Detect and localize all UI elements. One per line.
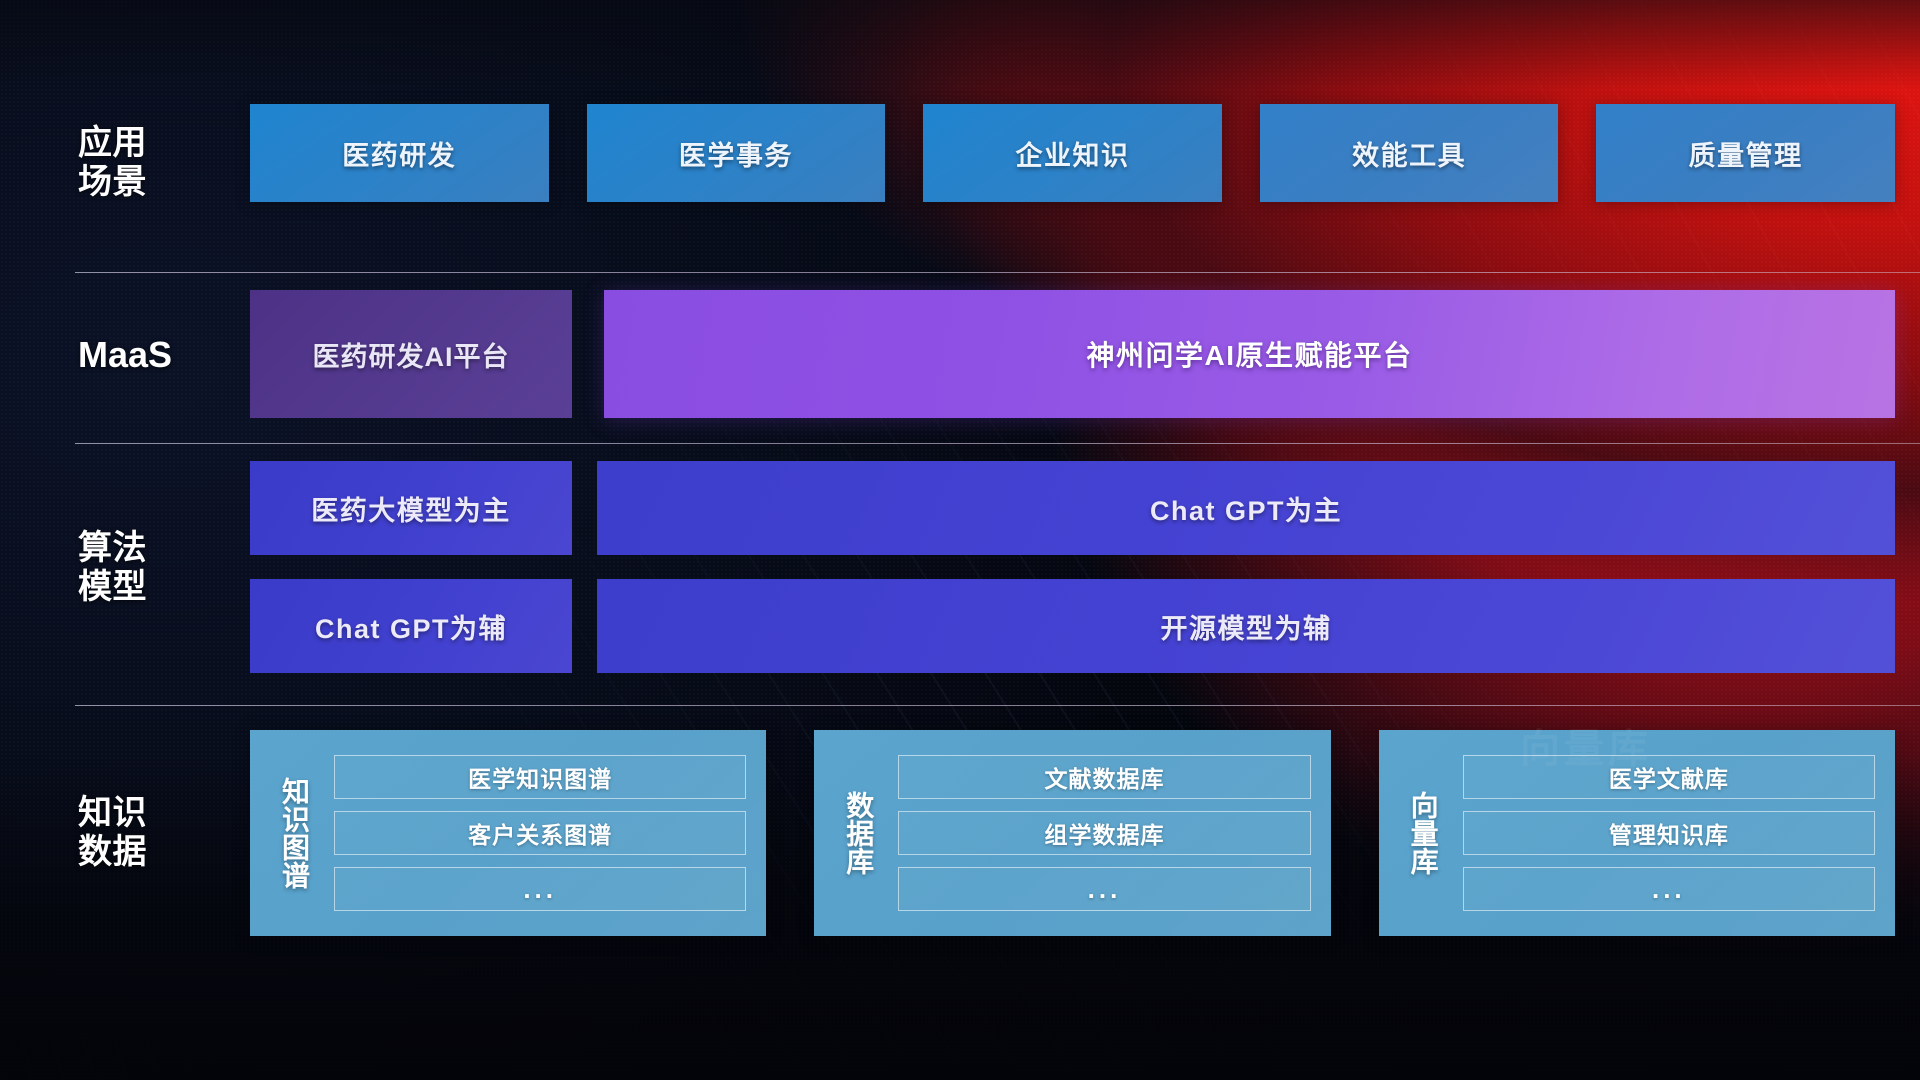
knowledge-item-list: 医学文献库 管理知识库 ... xyxy=(1463,755,1875,911)
knowledge-group-label-database: 数据库 xyxy=(830,791,886,875)
knowledge-group-label-vector-store: 向量库 xyxy=(1395,791,1451,875)
knowledge-item-list: 文献数据库 组学数据库 ... xyxy=(898,755,1310,911)
knowledge-group-vector-store[interactable]: 向量库 医学文献库 管理知识库 ... xyxy=(1379,730,1895,936)
algo-card-chatgpt-secondary[interactable]: Chat GPT为辅 xyxy=(250,579,572,673)
divider-applications-maas xyxy=(75,272,1920,273)
row-label-application-scenarios: 应用 场景 xyxy=(78,124,228,203)
knowledge-item-medical-knowledge-graph[interactable]: 医学知识图谱 xyxy=(334,755,746,799)
knowledge-group-label-text: 知识图谱 xyxy=(278,777,310,889)
algo-card-medicine-large-model-primary[interactable]: 医药大模型为主 xyxy=(250,461,572,555)
knowledge-group-label-text: 数据库 xyxy=(842,791,874,875)
knowledge-item-omics-database[interactable]: 组学数据库 xyxy=(898,811,1310,855)
algorithm-right-column: Chat GPT为主 开源模型为辅 xyxy=(597,461,1895,673)
app-card-efficiency-tools[interactable]: 效能工具 xyxy=(1260,104,1559,202)
row-label-line-1: 应用 xyxy=(78,124,228,163)
row-label-line-2: 场景 xyxy=(78,163,228,202)
knowledge-item-literature-database[interactable]: 文献数据库 xyxy=(898,755,1310,799)
app-card-medical-affairs[interactable]: 医学事务 xyxy=(587,104,886,202)
knowledge-group-list: 知识图谱 医学知识图谱 客户关系图谱 ... 数据库 文献数据库 组学数据库 .… xyxy=(250,730,1895,936)
row-label-knowledge-data: 知识 数据 xyxy=(78,794,228,873)
knowledge-item-more-ellipsis[interactable]: ... xyxy=(898,867,1310,911)
app-card-enterprise-knowledge[interactable]: 企业知识 xyxy=(923,104,1222,202)
row-maas: MaaS 医药研发AI平台 神州问学AI原生赋能平台 xyxy=(0,290,1920,418)
row-label-line-2: 数据 xyxy=(78,833,228,872)
maas-card-shenzhou-wenxue-platform[interactable]: 神州问学AI原生赋能平台 xyxy=(604,290,1895,418)
knowledge-group-database[interactable]: 数据库 文献数据库 组学数据库 ... xyxy=(814,730,1330,936)
algo-card-opensource-model-secondary[interactable]: 开源模型为辅 xyxy=(597,579,1895,673)
knowledge-item-more-ellipsis[interactable]: ... xyxy=(334,867,746,911)
knowledge-group-label-knowledge-graph: 知识图谱 xyxy=(266,777,322,889)
row-knowledge-data: 知识 数据 知识图谱 医学知识图谱 客户关系图谱 ... 数据库 文献数据库 xyxy=(0,730,1920,936)
knowledge-group-label-text: 向量库 xyxy=(1407,791,1439,875)
knowledge-item-list: 医学知识图谱 客户关系图谱 ... xyxy=(334,755,746,911)
app-card-medicine-rnd[interactable]: 医药研发 xyxy=(250,104,549,202)
algo-card-chatgpt-primary[interactable]: Chat GPT为主 xyxy=(597,461,1895,555)
knowledge-item-more-ellipsis[interactable]: ... xyxy=(1463,867,1875,911)
architecture-diagram: 应用 场景 医药研发 医学事务 企业知识 效能工具 质量管理 MaaS 医药研发… xyxy=(0,0,1920,1080)
divider-algorithm-knowledge xyxy=(75,705,1920,706)
row-application-scenarios: 应用 场景 医药研发 医学事务 企业知识 效能工具 质量管理 xyxy=(0,104,1920,202)
knowledge-item-management-knowledge-store[interactable]: 管理知识库 xyxy=(1463,811,1875,855)
application-card-list: 医药研发 医学事务 企业知识 效能工具 质量管理 xyxy=(250,104,1895,202)
app-card-quality-management[interactable]: 质量管理 xyxy=(1596,104,1895,202)
row-algorithm-model: 算法 模型 医药大模型为主 Chat GPT为辅 Chat GPT为主 开源模型… xyxy=(0,461,1920,673)
divider-maas-algorithm xyxy=(75,443,1920,444)
row-label-maas: MaaS xyxy=(78,334,228,376)
row-label-algorithm-model: 算法 模型 xyxy=(78,529,228,608)
knowledge-item-medical-literature-store[interactable]: 医学文献库 xyxy=(1463,755,1875,799)
row-label-line-1: 算法 xyxy=(78,529,228,568)
maas-card-medicine-rnd-ai-platform[interactable]: 医药研发AI平台 xyxy=(250,290,572,418)
row-label-line-1: 知识 xyxy=(78,794,228,833)
knowledge-item-customer-relation-graph[interactable]: 客户关系图谱 xyxy=(334,811,746,855)
row-label-line-2: 模型 xyxy=(78,568,228,607)
algorithm-left-column: 医药大模型为主 Chat GPT为辅 xyxy=(250,461,572,673)
knowledge-group-knowledge-graph[interactable]: 知识图谱 医学知识图谱 客户关系图谱 ... xyxy=(250,730,766,936)
